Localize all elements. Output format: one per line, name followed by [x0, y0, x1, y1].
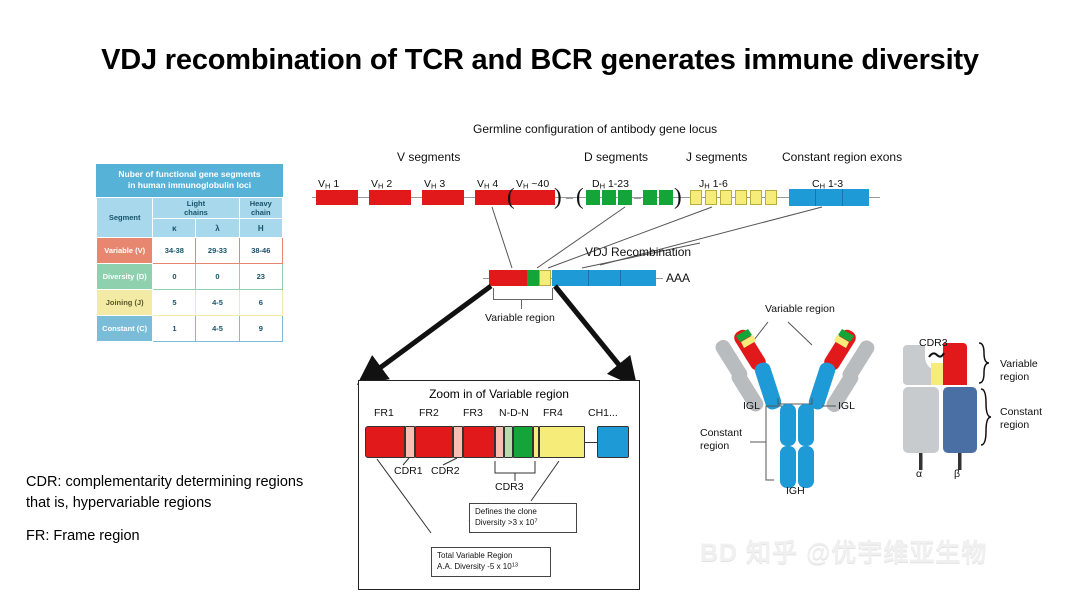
table-row: Variable (V) 34-38 29-33 38-46 — [97, 238, 283, 264]
tcr-variable-bracket — [979, 343, 989, 383]
label-cdr3: CDR3 — [495, 481, 524, 493]
gene-segment-dh — [586, 190, 600, 205]
tcr-alpha-label: α — [916, 468, 922, 480]
antibody-igh-label: IGH — [786, 485, 805, 497]
tcr-joining-segment — [931, 363, 943, 385]
antibody-constant-line2: region — [700, 440, 742, 453]
header-heavy-chain: Heavy chain — [239, 198, 282, 219]
tcr-variable-region-label: Variable region — [1000, 358, 1038, 384]
paren-open-v: ( — [507, 185, 515, 208]
antibody-fc-region — [780, 404, 814, 488]
antibody-igl-left-label: IGL — [743, 400, 760, 412]
slide-canvas: VDJ recombination of TCR and BCR generat… — [0, 0, 1080, 609]
gene-segment-jh — [735, 190, 747, 205]
total-callout-line2: A.A. Diversity -5 x 1013 — [437, 562, 545, 573]
total-diversity-exponent: 13 — [512, 562, 518, 568]
tcr-constant-region-label: Constant region — [1000, 406, 1042, 432]
label-jh: JH 1-6 — [699, 178, 728, 191]
table-row: Diversity (D) 0 0 23 — [97, 264, 283, 290]
subheader-h: H — [239, 219, 282, 238]
cell-variable-kappa: 34-38 — [153, 238, 196, 264]
total-variable-callout-box: Total Variable Region A.A. Diversity -5 … — [431, 547, 551, 577]
zoom-seg-cdr2 — [453, 426, 463, 458]
tcr-variable-line2: region — [1000, 371, 1038, 384]
antibody-constant-line1: Constant — [700, 427, 742, 440]
subheader-lambda: λ — [196, 219, 239, 238]
label-vh4: VH 4 — [477, 178, 498, 191]
gene-segment-ch — [789, 189, 869, 206]
group-label-j-segments: J segments — [686, 150, 747, 164]
zoom-seg-n-left — [495, 426, 504, 458]
gene-segment-dh — [618, 190, 632, 205]
subheader-kappa: κ — [153, 219, 196, 238]
cell-joining-lambda: 4-5 — [196, 290, 239, 316]
tcr-constant-line2: region — [1000, 419, 1042, 432]
label-fr4: FR4 — [543, 407, 563, 419]
tcr-beta-variable — [943, 343, 967, 385]
header-light-chains: Light chains — [153, 198, 239, 219]
gene-segment-dh — [659, 190, 673, 205]
zoom-seg-fr2 — [415, 426, 453, 458]
row-label-joining: Joining (J) — [97, 290, 153, 316]
zoom-variable-region-panel: Zoom in of Variable region FR1 FR2 FR3 N… — [358, 380, 640, 590]
zoom-seg-fr3 — [463, 426, 495, 458]
cell-diversity-lambda: 0 — [196, 264, 239, 290]
variable-region-label: Variable region — [485, 312, 555, 324]
tcr-alpha-constant — [903, 387, 939, 453]
gene-segment-vh1 — [316, 190, 358, 205]
clone-diversity-text: Diversity >3 x 10 — [475, 518, 534, 527]
total-diversity-text: A.A. Diversity -5 x 10 — [437, 562, 512, 571]
zoom-seg-fr4 — [539, 426, 585, 458]
paren-close-v: ) — [554, 185, 562, 208]
gene-segment-jh — [750, 190, 762, 205]
gene-segment-vh2 — [369, 190, 411, 205]
group-label-d-segments: D segments — [584, 150, 648, 164]
gene-segment-jh — [765, 190, 777, 205]
zoom-seg-cdr1 — [405, 426, 415, 458]
ch-exon-divider — [842, 189, 843, 206]
vh40-letter: V — [516, 178, 523, 190]
variable-region-brace-stem — [521, 299, 522, 309]
label-cdr2: CDR2 — [431, 465, 460, 477]
vh2-letter: V — [371, 178, 378, 190]
vh4-num: 4 — [489, 178, 498, 190]
header-segment: Segment — [97, 198, 153, 238]
table-title: Nuber of functional gene segments in hum… — [96, 164, 283, 197]
label-fr2: FR2 — [419, 407, 439, 419]
table-row: Constant (C) 1 4-5 9 — [97, 316, 283, 342]
product-v-segment — [489, 270, 527, 286]
clone-diversity-exponent: 7 — [534, 518, 537, 524]
label-dh: DH 1-23 — [592, 178, 629, 191]
zoom-seg-ch1 — [597, 426, 629, 458]
zoom-seg-n-region — [504, 426, 513, 458]
tcr-beta-label: β — [954, 468, 960, 480]
antibody-constant-region-label: Constant region — [700, 427, 742, 453]
table-header-row: Segment Light chains Heavy chain — [97, 198, 283, 219]
vh40-num: ~40 — [528, 178, 549, 190]
table-title-line1: Nuber of functional gene segments — [100, 169, 279, 180]
zoom-seg-fr1 — [365, 426, 405, 458]
cell-variable-heavy: 38-46 — [239, 238, 282, 264]
vh1-num: 1 — [330, 178, 339, 190]
header-light-line1: Light — [153, 199, 238, 208]
gene-segment-dh — [643, 190, 657, 205]
zoom-connector-line — [585, 442, 597, 443]
page-title: VDJ recombination of TCR and BCR generat… — [0, 44, 1080, 77]
label-vh2: VH 2 — [371, 178, 392, 191]
tcr-variable-line1: Variable — [1000, 358, 1038, 371]
tcr-diagram — [895, 335, 1005, 480]
tcr-cdr3-label: CDR3 — [919, 337, 948, 349]
zoom-panel-title: Zoom in of Variable region — [359, 387, 639, 401]
vdj-recombination-label: VDJ Recombination — [585, 245, 691, 259]
table-row: Joining (J) 5 4-5 6 — [97, 290, 283, 316]
row-label-constant: Constant (C) — [97, 316, 153, 342]
label-ndn: N-D-N — [499, 407, 529, 419]
gene-segment-vh40 — [517, 190, 555, 205]
poly-a-label: AAA — [666, 271, 690, 285]
cdr-note-line2: that is, hypervariable regions — [26, 493, 303, 514]
variable-region-brace — [493, 288, 553, 300]
locus-dash — [566, 197, 573, 199]
table-title-line2: in human immunoglobulin loci — [100, 180, 279, 191]
cell-variable-lambda: 29-33 — [196, 238, 239, 264]
paren-open-d: ( — [576, 185, 584, 208]
label-ch1: CH1... — [588, 407, 618, 419]
vh1-letter: V — [318, 178, 325, 190]
cell-constant-heavy: 9 — [239, 316, 282, 342]
cdr-definition-note: CDR: complementarity determining regions… — [26, 472, 303, 514]
cell-diversity-heavy: 23 — [239, 264, 282, 290]
header-light-line2: chains — [153, 208, 238, 217]
vh4-letter: V — [477, 178, 484, 190]
antibody-constant-bracket — [766, 406, 774, 480]
cell-diversity-kappa: 0 — [153, 264, 196, 290]
antibody-hinge — [778, 398, 812, 404]
dh-letter: D — [592, 178, 600, 190]
ch-exon-divider — [815, 189, 816, 206]
header-heavy-line2: chain — [240, 208, 282, 217]
vh2-num: 2 — [383, 178, 392, 190]
antibody-diagram — [690, 300, 900, 510]
clone-callout-box: Defines the clone Diversity >3 x 107 — [469, 503, 577, 533]
gene-segment-jh — [705, 190, 717, 205]
vh3-letter: V — [424, 178, 431, 190]
label-cdr1: CDR1 — [394, 465, 423, 477]
tcr-constant-bracket — [981, 389, 991, 445]
cdr-note-line1: CDR: complementarity determining regions — [26, 472, 303, 493]
cell-constant-kappa: 1 — [153, 316, 196, 342]
zoom-seg-d-region — [513, 426, 533, 458]
dh-num: 1-23 — [605, 178, 629, 190]
header-heavy-line1: Heavy — [240, 199, 282, 208]
paren-close-d: ) — [674, 185, 682, 208]
product-j-segment — [539, 270, 551, 286]
cell-joining-kappa: 5 — [153, 290, 196, 316]
product-d-segment — [527, 270, 539, 286]
gene-segment-dh — [602, 190, 616, 205]
group-label-constant-exons: Constant region exons — [782, 150, 902, 164]
label-vh1: VH 1 — [318, 178, 339, 191]
tcr-beta-constant — [943, 387, 977, 453]
product-c-divider — [620, 270, 621, 286]
vh3-num: 3 — [436, 178, 445, 190]
total-callout-line1: Total Variable Region — [437, 551, 545, 562]
jh-num: 1-6 — [710, 178, 728, 190]
gene-segment-jh — [690, 190, 702, 205]
group-label-v-segments: V segments — [397, 150, 460, 164]
watermark: BD 知乎 @优宇维亚生物 — [700, 533, 987, 569]
label-fr3: FR3 — [463, 407, 483, 419]
label-vh40: VH ~40 — [516, 178, 549, 191]
product-c-region — [552, 270, 656, 286]
gene-segment-table: Nuber of functional gene segments in hum… — [95, 163, 284, 343]
cdr3-squiggle — [929, 353, 944, 357]
antibody-igl-right-label: IGL — [838, 400, 855, 412]
gene-segment-jh — [720, 190, 732, 205]
locus-heading: Germline configuration of antibody gene … — [473, 122, 717, 136]
product-c-divider — [588, 270, 589, 286]
label-vh3: VH 3 — [424, 178, 445, 191]
locus-dash — [634, 197, 641, 199]
row-label-variable: Variable (V) — [97, 238, 153, 264]
row-label-diversity: Diversity (D) — [97, 264, 153, 290]
clone-callout-line2: Diversity >3 x 107 — [475, 518, 571, 529]
cell-constant-lambda: 4-5 — [196, 316, 239, 342]
fr-definition-note: FR: Frame region — [26, 528, 140, 544]
tcr-constant-line1: Constant — [1000, 406, 1042, 419]
gene-segment-vh3 — [422, 190, 464, 205]
clone-callout-line1: Defines the clone — [475, 507, 571, 518]
label-fr1: FR1 — [374, 407, 394, 419]
cell-joining-heavy: 6 — [239, 290, 282, 316]
